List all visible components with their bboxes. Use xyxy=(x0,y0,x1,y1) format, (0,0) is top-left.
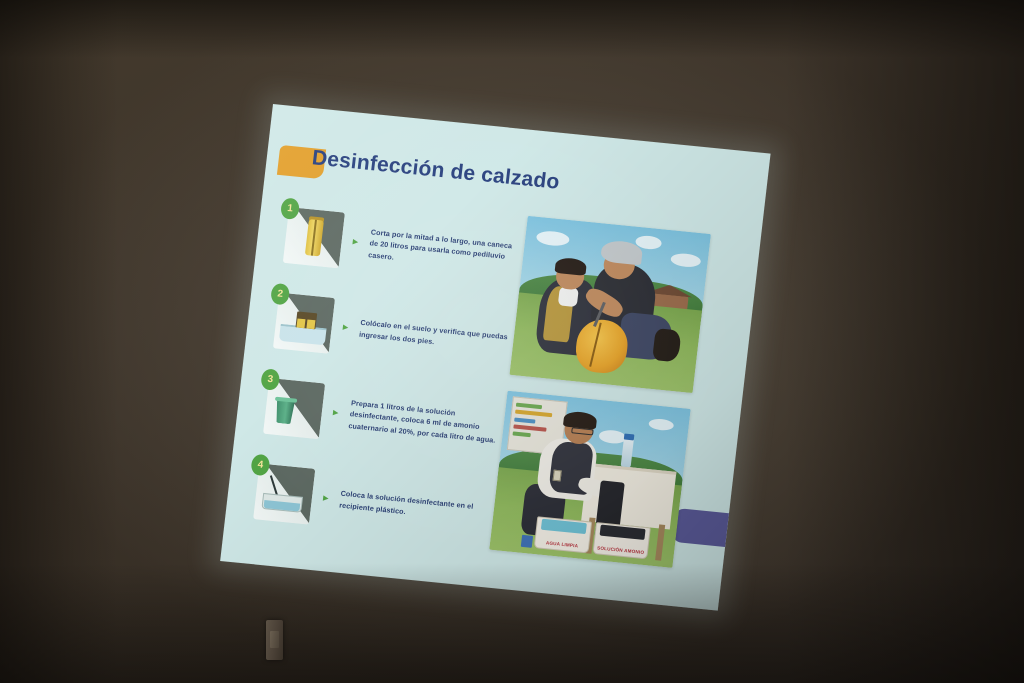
photo-footbath-demo: AGUA LIMPIA SOLUCIÓN AMONIO xyxy=(489,391,691,568)
tub-agua-limpia: AGUA LIMPIA xyxy=(534,516,593,553)
slide-title: Desinfección de calzado xyxy=(311,146,561,195)
tub-solucion-amonio: SOLUCIÓN AMONIO xyxy=(592,522,651,559)
step-text: Colócalo en el suelo y verifica que pued… xyxy=(358,317,512,355)
step-arrow-icon: ▸ xyxy=(332,407,345,419)
purple-accent-shape xyxy=(671,508,735,548)
projector-screen[interactable]: Desinfección de calzado 1 xyxy=(220,104,770,611)
step-arrow-icon: ▸ xyxy=(322,492,335,504)
light-switch-rocker[interactable] xyxy=(270,631,279,648)
projection-area: Desinfección de calzado 1 xyxy=(273,104,773,564)
step-arrow-icon: ▸ xyxy=(342,322,355,334)
step-text: Coloca la solución desinfectante en el r… xyxy=(339,488,493,526)
light-switch[interactable] xyxy=(266,620,283,660)
tub-left-label: AGUA LIMPIA xyxy=(535,539,589,549)
step-text: Corta por la mitad a lo largo, una canec… xyxy=(368,226,523,276)
photo-cutting-barrel xyxy=(509,216,711,393)
room-scene: Desinfección de calzado 1 xyxy=(0,0,1024,683)
presentation-slide[interactable]: Desinfección de calzado 1 xyxy=(220,104,770,611)
step-arrow-icon: ▸ xyxy=(352,236,365,248)
step-text: Prepara 1 litros de la solución desinfec… xyxy=(348,397,503,447)
tub-right-label: SOLUCIÓN AMONIO xyxy=(594,545,648,555)
steps-list: 1 ▸ Corta por la mitad a lo largo, una c… xyxy=(237,193,525,560)
